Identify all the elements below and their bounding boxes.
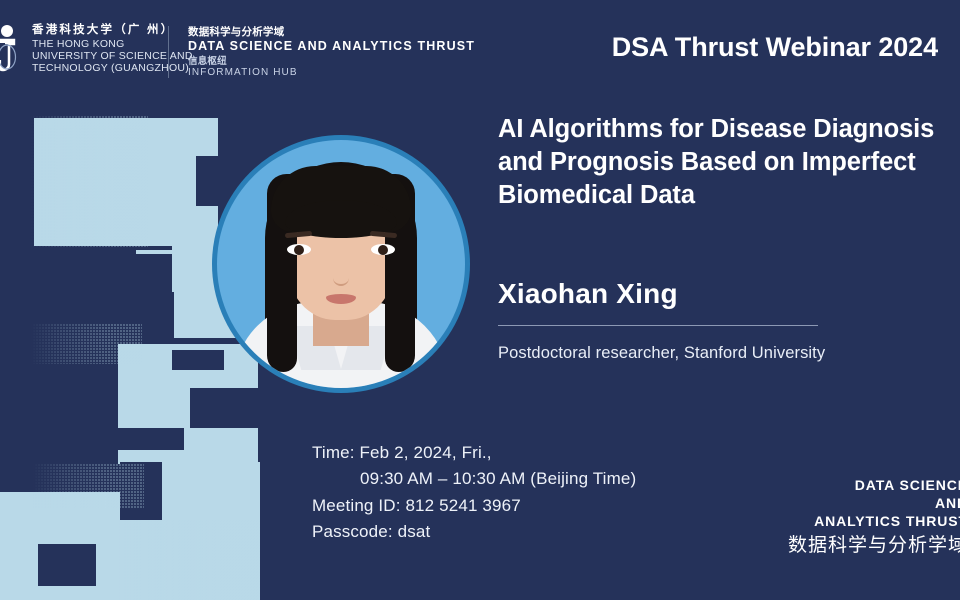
event-time-label: Time: Feb 2, 2024, Fri., — [312, 440, 636, 466]
thrust-unit-chinese: 信息枢纽 — [188, 56, 475, 67]
poster-header: 香港科技大学（广 州） THE HONG KONG UNIVERSITY OF … — [0, 0, 960, 100]
thrust-name-chinese: 数据科学与分析学域 — [188, 26, 475, 39]
meeting-id: Meeting ID: 812 5241 3967 — [312, 493, 636, 519]
talk-title: AI Algorithms for Disease Diagnosis and … — [498, 113, 944, 212]
thrust-watermark: DATA SCIENCE AND ANALYTICS THRUST 数据科学与分… — [788, 476, 960, 558]
meeting-passcode: Passcode: dsat — [312, 519, 636, 545]
thrust-logo-block: 数据科学与分析学域 DATA SCIENCE AND ANALYTICS THR… — [188, 26, 475, 79]
webinar-poster: 香港科技大学（广 州） THE HONG KONG UNIVERSITY OF … — [0, 0, 960, 600]
portrait-photo — [217, 140, 465, 388]
watermark-line-4: 数据科学与分析学域 — [788, 533, 960, 558]
logo-divider — [168, 26, 169, 78]
university-logo-block: 香港科技大学（广 州） THE HONG KONG UNIVERSITY OF … — [2, 24, 193, 76]
watermark-line-1: DATA SCIENCE — [788, 476, 960, 494]
speaker-portrait — [212, 135, 470, 393]
speaker-name: Xiaohan Xing — [498, 278, 678, 310]
watermark-line-3: ANALYTICS THRUST — [788, 512, 960, 530]
watermark-line-2: AND — [788, 494, 960, 512]
thrust-unit-english: INFORMATION HUB — [188, 67, 475, 79]
hkust-logo-icon — [0, 24, 24, 76]
speaker-affiliation: Postdoctoral researcher, Stanford Univer… — [498, 344, 825, 363]
event-details: Time: Feb 2, 2024, Fri., 09:30 AM – 10:3… — [312, 440, 636, 545]
event-title: DSA Thrust Webinar 2024 — [612, 32, 938, 63]
speaker-divider — [498, 325, 818, 326]
thrust-name-english: DATA SCIENCE AND ANALYTICS THRUST — [188, 39, 475, 54]
event-time-range: 09:30 AM – 10:30 AM (Beijing Time) — [312, 466, 636, 492]
